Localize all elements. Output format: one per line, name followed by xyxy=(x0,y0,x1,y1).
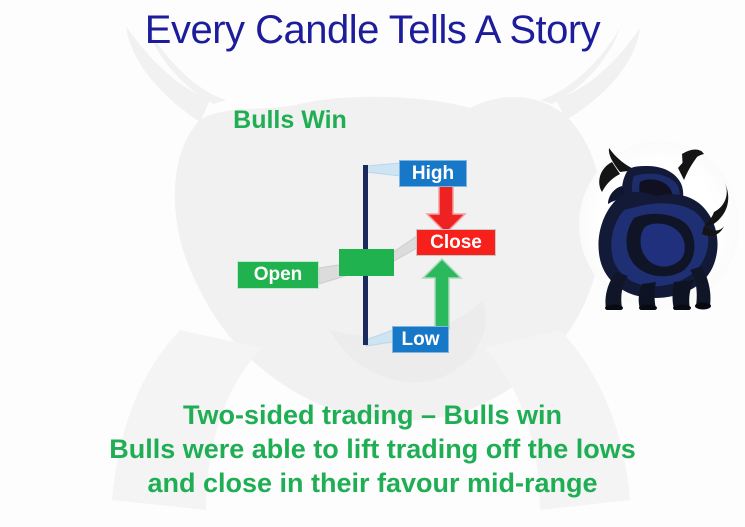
slide-title: Every Candle Tells A Story xyxy=(0,8,745,53)
candle-body xyxy=(339,249,394,276)
label-high: High xyxy=(399,160,467,187)
label-open: Open xyxy=(237,261,319,289)
slide-subtitle: Bulls Win xyxy=(0,106,580,135)
leader-high xyxy=(366,163,400,176)
high-to-close-down-arrow xyxy=(424,186,468,234)
leader-close xyxy=(392,236,417,262)
label-close: Close xyxy=(416,229,496,256)
leader-low xyxy=(366,330,393,346)
label-low: Low xyxy=(392,326,449,353)
caption-line-1: Two-sided trading – Bulls win xyxy=(0,398,745,432)
low-to-close-up-arrow xyxy=(420,258,464,330)
bull-illustration xyxy=(578,140,740,310)
slide-canvas: Every Candle Tells A Story Bulls Win H xyxy=(0,0,745,527)
caption-line-2: Bulls were able to lift trading off the … xyxy=(0,432,745,466)
caption-line-3: and close in their favour mid-range xyxy=(0,466,745,500)
slide-caption: Two-sided trading – Bulls win Bulls were… xyxy=(0,398,745,500)
